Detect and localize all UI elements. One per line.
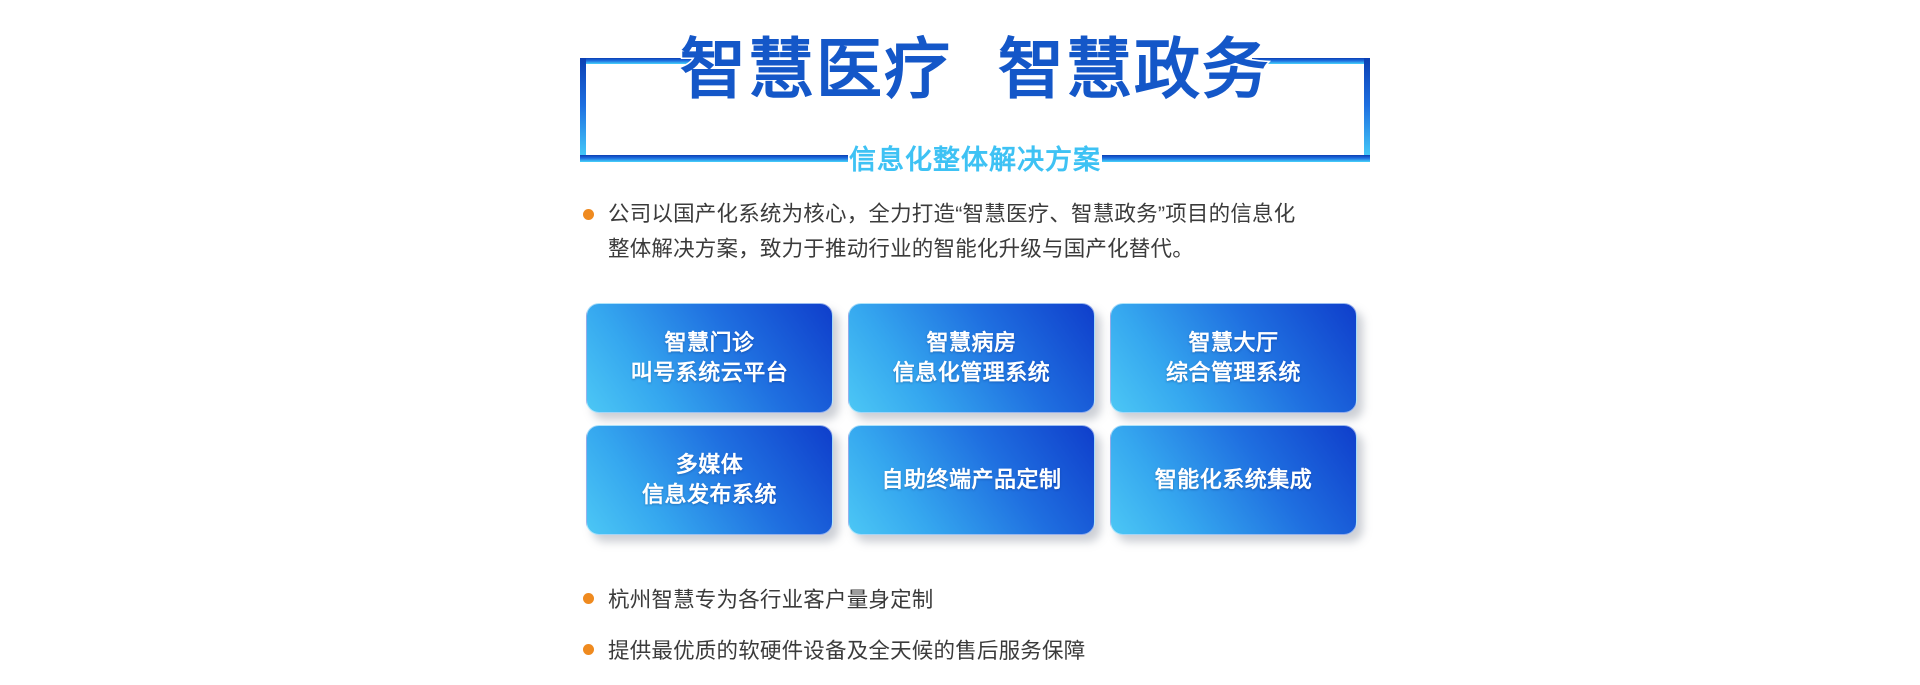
solution-card-label: 多媒体 信息发布系统 xyxy=(642,450,777,511)
intro-paragraph-text: 公司以国产化系统为核心，全力打造“智慧医疗、智慧政务”项目的信息化整体解决方案，… xyxy=(608,197,1313,267)
list-item: 提供最优质的软硬件设备及全天候的售后服务保障 xyxy=(583,634,1283,665)
solution-card-label: 智能化系统集成 xyxy=(1155,465,1313,495)
solution-card-label: 自助终端产品定制 xyxy=(881,465,1061,495)
orange-dot-icon xyxy=(583,209,594,220)
solution-card[interactable]: 智慧病房 信息化管理系统 xyxy=(848,303,1095,413)
page-subtitle: 信息化整体解决方案 xyxy=(580,147,1370,174)
title-part-government: 智慧政务 xyxy=(998,32,1270,106)
title-part-healthcare: 智慧医疗 xyxy=(680,32,952,106)
solution-card-label: 智慧门诊 叫号系统云平台 xyxy=(631,328,789,389)
solution-card-label: 智慧病房 信息化管理系统 xyxy=(893,328,1051,389)
list-item: 杭州智慧专为各行业客户量身定制 xyxy=(583,583,1283,614)
solution-card[interactable]: 智慧大厅 综合管理系统 xyxy=(1110,303,1357,413)
title-block: 智慧医疗智慧政务 信息化整体解决方案 xyxy=(580,40,1370,162)
solution-card[interactable]: 自助终端产品定制 xyxy=(848,425,1095,535)
feature-bullet-text: 杭州智慧专为各行业客户量身定制 xyxy=(608,583,934,614)
feature-bullet-text: 提供最优质的软硬件设备及全天候的售后服务保障 xyxy=(608,634,1085,665)
solution-card[interactable]: 智能化系统集成 xyxy=(1110,425,1357,535)
page-title: 智慧医疗智慧政务 xyxy=(580,32,1370,108)
solution-card[interactable]: 智慧门诊 叫号系统云平台 xyxy=(586,303,833,413)
orange-dot-icon xyxy=(583,644,594,655)
intro-paragraph-row: 公司以国产化系统为核心，全力打造“智慧医疗、智慧政务”项目的信息化整体解决方案，… xyxy=(583,197,1313,267)
orange-dot-icon xyxy=(583,593,594,604)
solution-card-grid: 智慧门诊 叫号系统云平台 智慧病房 信息化管理系统 智慧大厅 综合管理系统 多媒… xyxy=(586,303,1357,535)
page-root: 智慧医疗智慧政务 信息化整体解决方案 公司以国产化系统为核心，全力打造“智慧医疗… xyxy=(0,0,1920,680)
solution-card-label: 智慧大厅 综合管理系统 xyxy=(1166,328,1301,389)
solution-card[interactable]: 多媒体 信息发布系统 xyxy=(586,425,833,535)
feature-bullet-list: 杭州智慧专为各行业客户量身定制 提供最优质的软硬件设备及全天候的售后服务保障 xyxy=(583,583,1283,685)
